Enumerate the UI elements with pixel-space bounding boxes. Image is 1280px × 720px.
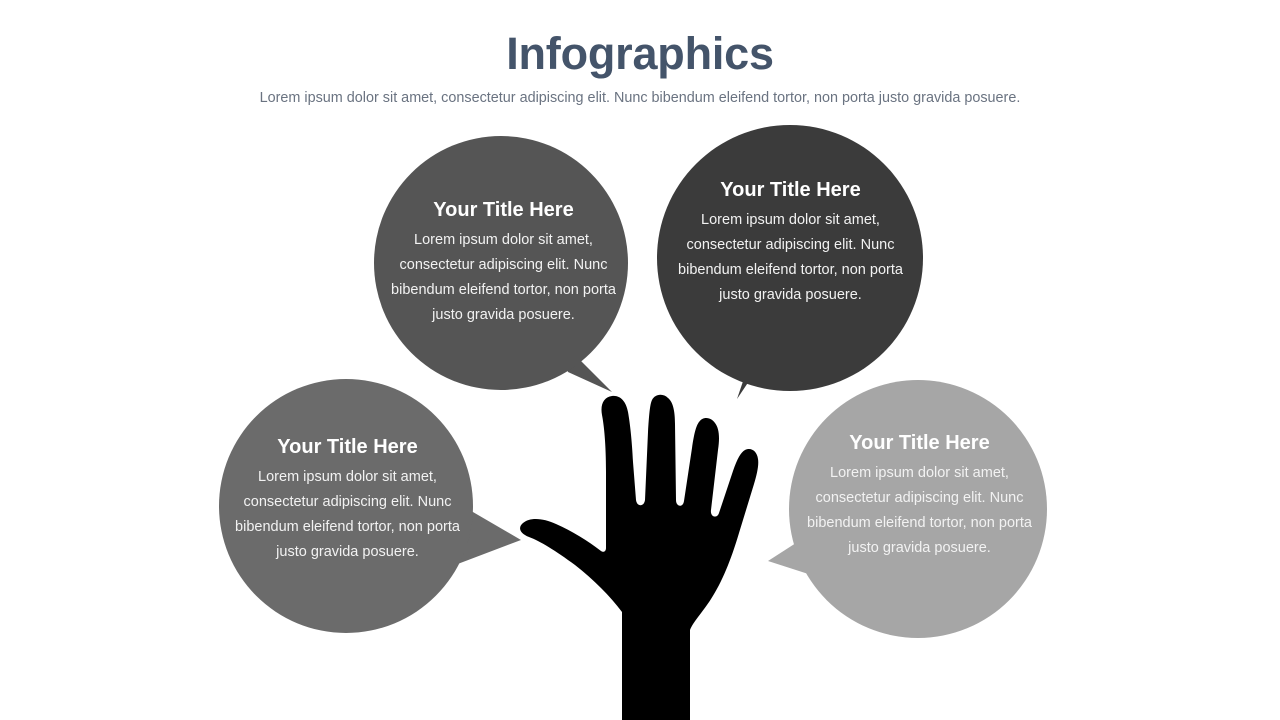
bubble-4-title: Your Title Here — [795, 431, 1044, 456]
bubble-1-title: Your Title Here — [379, 198, 628, 223]
bubble-3-title: Your Title Here — [223, 435, 472, 460]
infographic-shapes — [0, 0, 1280, 720]
bubble-2-body: Lorem ipsum dolor sit amet, consectetur … — [666, 208, 915, 308]
hand-silhouette-icon — [520, 395, 758, 720]
bubble-1-body: Lorem ipsum dolor sit amet, consectetur … — [379, 228, 628, 328]
bubble-1-content: Your Title Here Lorem ipsum dolor sit am… — [379, 198, 628, 328]
bubble-3-content: Your Title Here Lorem ipsum dolor sit am… — [223, 435, 472, 565]
bubble-4-content: Your Title Here Lorem ipsum dolor sit am… — [795, 431, 1044, 561]
bubble-3-body: Lorem ipsum dolor sit amet, consectetur … — [223, 465, 472, 565]
bubble-2-title: Your Title Here — [666, 178, 915, 203]
bubble-2-content: Your Title Here Lorem ipsum dolor sit am… — [666, 178, 915, 308]
bubble-4-body: Lorem ipsum dolor sit amet, consectetur … — [795, 461, 1044, 561]
slide-canvas: Infographics Lorem ipsum dolor sit amet,… — [0, 0, 1280, 720]
